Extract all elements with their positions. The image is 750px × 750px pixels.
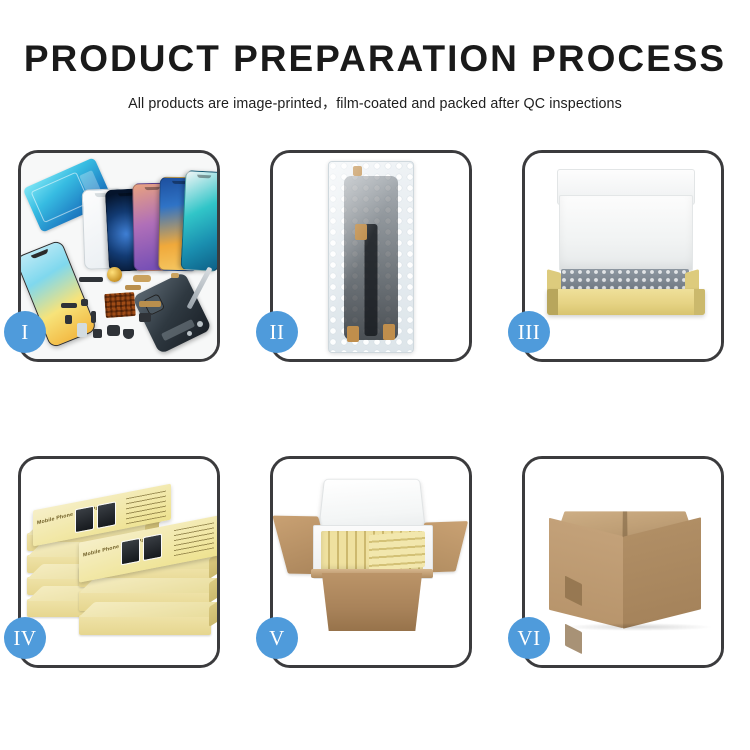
component-graphic [93, 329, 102, 338]
phone-lineup-graphic [107, 163, 217, 271]
process-step-3: III [522, 150, 724, 362]
process-steps-grid: I II III [18, 150, 732, 678]
component-graphic [133, 275, 151, 282]
stacked-box [79, 615, 211, 635]
component-graphic [125, 285, 141, 290]
box-label-phone-image [121, 538, 140, 566]
carton-left-face-graphic [549, 518, 623, 628]
box-stack-graphic: Mobile Phone Spare Parts Mobile Phone Sp… [27, 471, 213, 651]
box-label-text: Mobile Phone Spare Parts [83, 536, 152, 559]
speaker-component-graphic [107, 267, 122, 282]
step-badge-3: III [508, 311, 550, 353]
flex-cable-graphic [365, 224, 378, 336]
step-2-illustration [273, 153, 469, 359]
carton-right-face-graphic [623, 517, 701, 628]
connector-tab-graphic [383, 324, 395, 340]
component-graphic [123, 329, 134, 339]
bubble-wrap-package-graphic [328, 161, 414, 353]
step-5-illustration [273, 459, 469, 665]
page-subtitle: All products are image-printed，film-coat… [0, 79, 750, 113]
component-graphic [61, 303, 77, 308]
carton-shadow [563, 623, 713, 631]
retail-boxes-contents-graphic [369, 531, 425, 571]
component-graphic [187, 331, 192, 336]
component-graphic [107, 325, 120, 336]
box-label-text: Mobile Phone Spare Parts [37, 504, 106, 527]
component-graphic [171, 273, 179, 278]
box-label-phone-image [75, 506, 94, 534]
process-step-1: I [18, 150, 220, 362]
component-graphic [139, 313, 151, 322]
connector-tab-graphic [353, 166, 362, 176]
step-4-illustration: Mobile Phone Spare Parts Mobile Phone Sp… [21, 459, 217, 665]
step-badge-1: I [4, 311, 46, 353]
process-step-5: V [270, 456, 472, 668]
copper-mesh-component-graphic [104, 292, 136, 318]
component-graphic [81, 299, 88, 306]
step-badge-6: VI [508, 617, 550, 659]
component-graphic [65, 315, 72, 324]
component-graphic [79, 277, 103, 282]
box-label-spec-lines [126, 491, 166, 525]
step-badge-4: IV [4, 617, 46, 659]
foam-padding-graphic [559, 195, 693, 271]
component-graphic [197, 321, 203, 327]
page-title: PRODUCT PREPARATION PROCESS [0, 0, 750, 79]
component-graphic [139, 301, 161, 307]
phone-graphic-teal [180, 170, 217, 272]
process-step-4: Mobile Phone Spare Parts Mobile Phone Sp… [18, 456, 220, 668]
box-label-spec-lines [174, 522, 214, 556]
step-3-illustration [525, 153, 721, 359]
carton-tape-graphic [565, 576, 582, 606]
step-1-illustration [21, 153, 217, 359]
step-badge-5: V [256, 617, 298, 659]
connector-tab-graphic [347, 326, 359, 342]
step-badge-2: II [256, 311, 298, 353]
process-step-2: II [270, 150, 472, 362]
box-label-phone-image [143, 533, 162, 561]
component-graphic [91, 311, 96, 323]
header: PRODUCT PREPARATION PROCESS All products… [0, 0, 750, 113]
box-label-phone-image [97, 501, 116, 529]
kraft-box-front-graphic [547, 289, 705, 315]
component-graphic [77, 323, 87, 337]
process-step-6: VI [522, 456, 724, 668]
carton-front-graphic [315, 573, 429, 631]
sealed-carton-graphic [541, 487, 709, 627]
step-6-illustration [525, 459, 721, 665]
connector-tab-graphic [355, 224, 367, 240]
